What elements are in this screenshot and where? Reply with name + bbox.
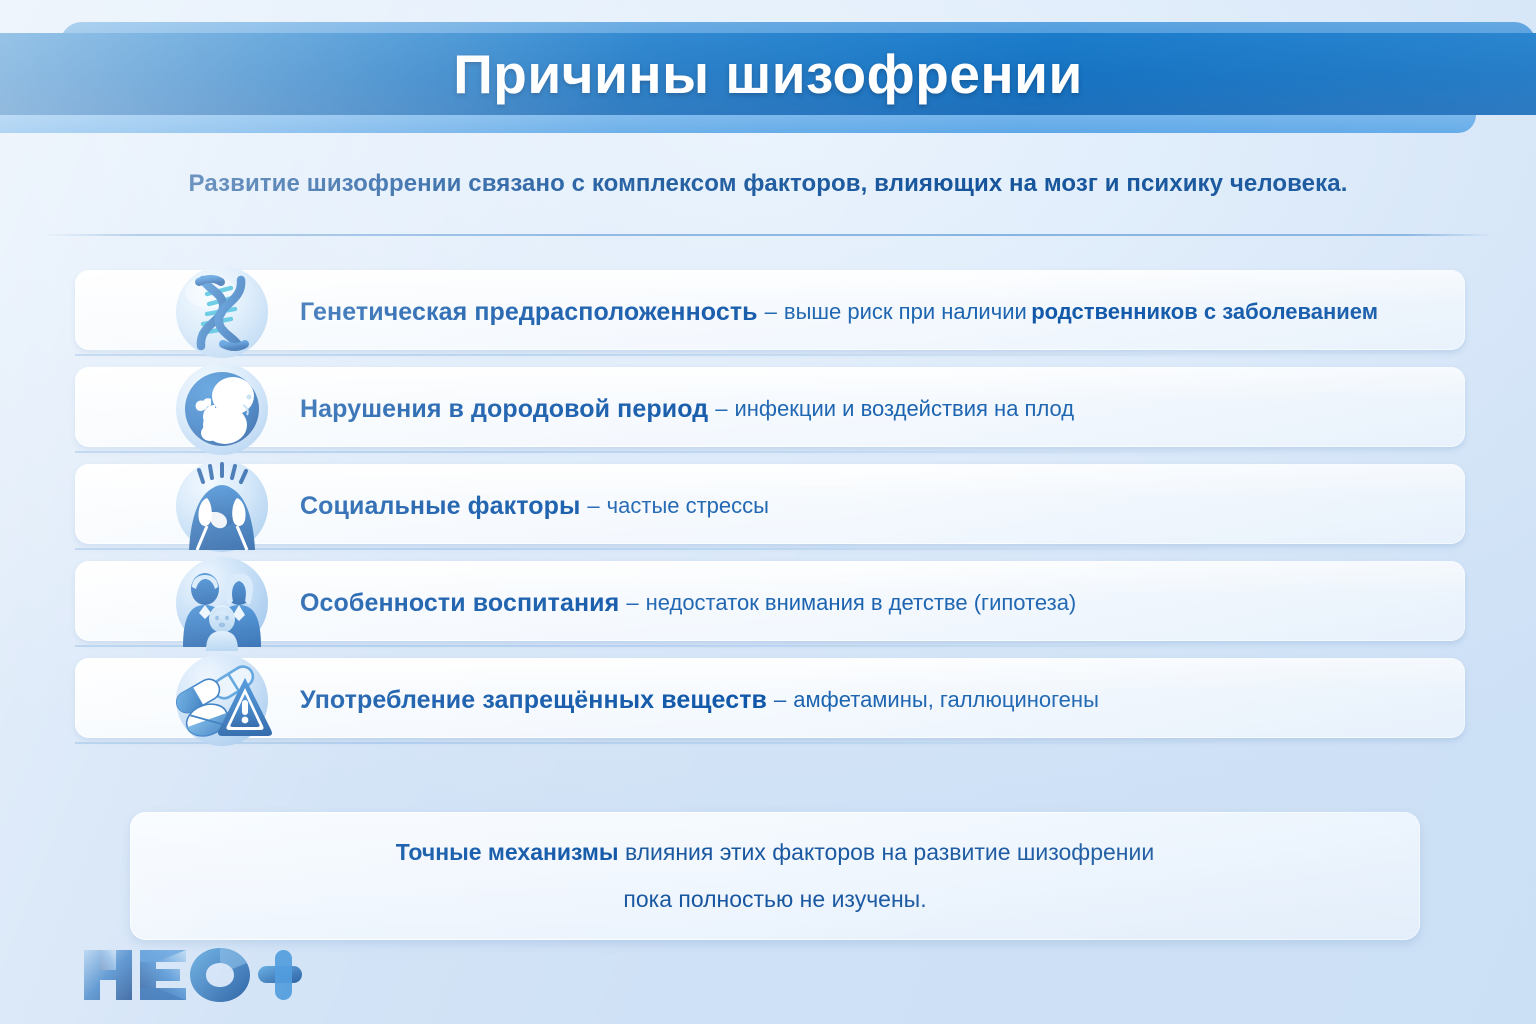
intro-divider [42, 234, 1494, 236]
pills-warning-icon [163, 652, 281, 748]
list-item[interactable]: Нарушения в дородовой период – инфекции … [0, 361, 1536, 457]
conclusion-line-1-rest: влияния этих факторов на развитие шизофр… [625, 839, 1154, 865]
row-description: частые стрессы [607, 493, 769, 519]
page-title: Причины шизофрении [0, 33, 1536, 115]
family-icon [163, 555, 281, 651]
dna-icon [163, 264, 281, 360]
conclusion-box: Точные механизмы влияния этих факторов н… [130, 812, 1420, 940]
row-text: Генетическая предрасположенность – выше … [300, 264, 1446, 360]
row-text: Нарушения в дородовой период – инфекции … [300, 361, 1446, 457]
row-title: Употребление запрещённых веществ [300, 686, 767, 715]
header-underbar [0, 115, 1476, 133]
row-title: Особенности воспитания [300, 589, 619, 618]
row-text: Употребление запрещённых веществ – амфет… [300, 652, 1446, 748]
infographic-canvas: Причины шизофрении Развитие шизофрении с… [0, 0, 1536, 1024]
row-title: Социальные факторы [300, 492, 580, 521]
conclusion-line-1: Точные механизмы влияния этих факторов н… [396, 839, 1154, 866]
factor-list: Генетическая предрасположенность – выше … [0, 264, 1536, 749]
row-description: недостаток внимания в детстве (гипотеза) [646, 590, 1077, 616]
row-description: амфетамины, галлюциногены [793, 687, 1099, 713]
conclusion-line-2: пока полностью не изучены. [623, 886, 926, 913]
list-item[interactable]: Генетическая предрасположенность – выше … [0, 264, 1536, 360]
fetus-icon [163, 361, 281, 457]
row-dash: – [715, 396, 727, 422]
row-dash: – [774, 687, 786, 713]
row-dash: – [765, 299, 777, 325]
brand-logo[interactable] [82, 944, 302, 1006]
row-title: Нарушения в дородовой период [300, 395, 708, 424]
list-item[interactable]: Употребление запрещённых веществ – амфет… [0, 652, 1536, 748]
row-text: Особенности воспитания – недостаток вним… [300, 555, 1446, 651]
header: Причины шизофрении [0, 0, 1536, 150]
row-description: инфекции и воздействия на плод [734, 396, 1074, 422]
row-dash: – [626, 590, 638, 616]
conclusion-emphasis: Точные механизмы [396, 839, 619, 865]
row-description: выше риск при наличии [784, 299, 1027, 325]
stress-head-icon [163, 458, 281, 554]
row-title: Генетическая предрасположенность [300, 298, 758, 327]
list-item[interactable]: Особенности воспитания – недостаток вним… [0, 555, 1536, 651]
row-description-emphasis: родственников с заболеванием [1031, 299, 1378, 325]
row-dash: – [587, 493, 599, 519]
row-text: Социальные факторы – частые стрессы [300, 458, 1446, 554]
intro-text: Развитие шизофрении связано с комплексом… [0, 170, 1536, 198]
list-item[interactable]: Социальные факторы – частые стрессы [0, 458, 1536, 554]
